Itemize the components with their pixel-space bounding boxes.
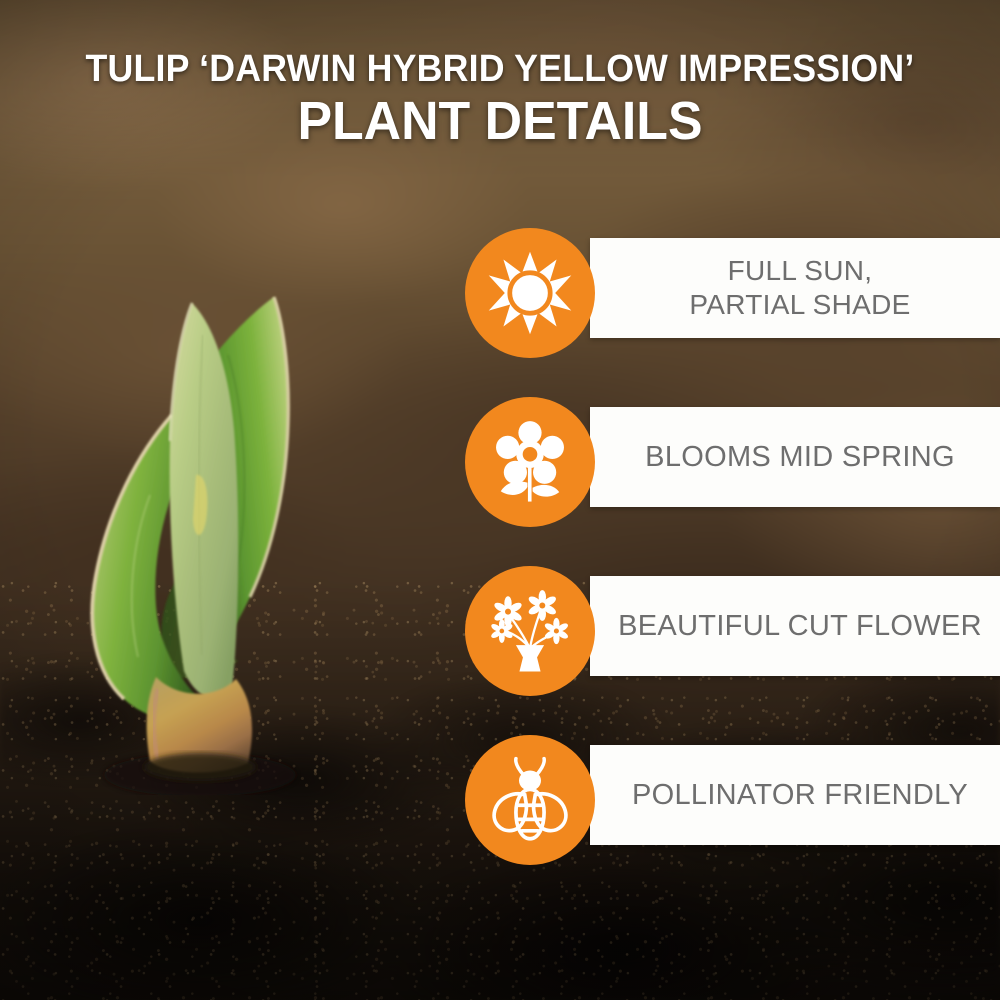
title-block: TULIP ‘DARWIN HYBRID YELLOW IMPRESSION’ … — [0, 48, 1000, 150]
sun-icon — [487, 250, 573, 336]
feature-bar: FULL SUN, PARTIAL SHADE — [590, 238, 1000, 338]
feature-badge-bloom — [465, 397, 595, 527]
flower-icon — [487, 419, 573, 505]
feature-badge-pollinator — [465, 735, 595, 865]
feature-row-sun: FULL SUN, PARTIAL SHADE — [0, 228, 1000, 328]
feature-label: POLLINATOR FRIENDLY — [632, 778, 968, 812]
feature-label: FULL SUN, PARTIAL SHADE — [689, 254, 910, 322]
feature-label: BEAUTIFUL CUT FLOWER — [618, 609, 982, 643]
page-title: PLANT DETAILS — [20, 92, 980, 150]
plant-details-infographic: TULIP ‘DARWIN HYBRID YELLOW IMPRESSION’ … — [0, 0, 1000, 1000]
feature-bar: POLLINATOR FRIENDLY — [590, 745, 1000, 845]
feature-badge-sun — [465, 228, 595, 358]
feature-row-bloom: BLOOMS MID SPRING — [0, 397, 1000, 497]
plant-name-title: TULIP ‘DARWIN HYBRID YELLOW IMPRESSION’ — [30, 48, 970, 90]
feature-label: BLOOMS MID SPRING — [645, 440, 955, 474]
feature-bar: BLOOMS MID SPRING — [590, 407, 1000, 507]
vase-bouquet-icon — [486, 587, 574, 675]
feature-list: FULL SUN, PARTIAL SHADE BLOOMS MID SPRIN… — [0, 228, 1000, 835]
feature-bar: BEAUTIFUL CUT FLOWER — [590, 576, 1000, 676]
feature-row-cut-flower: BEAUTIFUL CUT FLOWER — [0, 566, 1000, 666]
feature-row-pollinator: POLLINATOR FRIENDLY — [0, 735, 1000, 835]
feature-badge-cut-flower — [465, 566, 595, 696]
bee-icon — [486, 756, 574, 844]
